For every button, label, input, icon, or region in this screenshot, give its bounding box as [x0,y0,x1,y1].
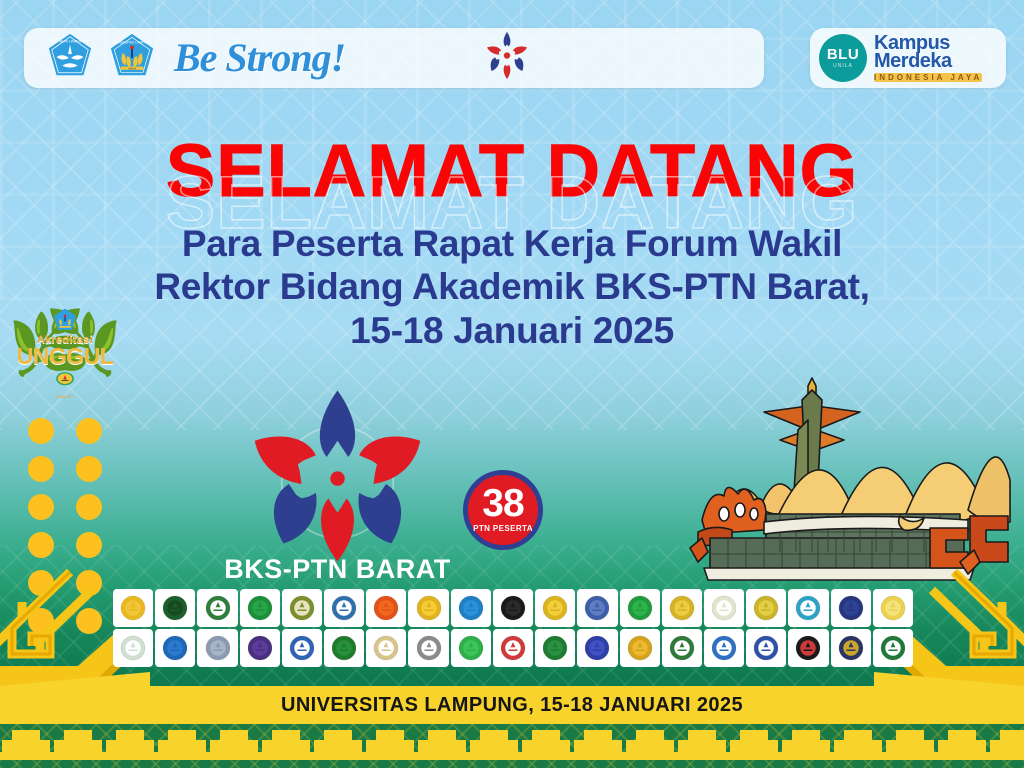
headline-main: SELAMAT DATANG [0,134,1024,208]
accreditation-line2: UNGGUL [17,346,114,368]
university-logo-unp [324,589,364,627]
footer-tapis-band [0,724,1024,768]
university-logo-ui [873,589,913,627]
tapis-tooth [728,730,780,760]
poster-canvas: TUT WURI HANDAYANI UNIVERSITAS LAMPUNG U… [0,0,1024,768]
university-logo-uin-mataram [535,629,575,667]
tapis-tooth [624,730,676,760]
university-logo-unib [197,589,237,627]
tapis-tooth [52,730,104,760]
tut-wuri-handayani-icon: TUT WURI HANDAYANI [46,32,94,85]
accreditation-badge: 🌿 🌿 Akreditasi UNGGUL BAN-PT [6,305,124,397]
university-logo-unand [155,589,195,627]
university-logo-unsoed [197,629,237,667]
tapis-tooth [208,730,260,760]
bks-ptn-flower-icon [484,31,530,86]
dot [28,494,54,520]
tapis-tooth [520,730,572,760]
kampus-merdeka-line3: INDONESIA JAYA [874,73,982,82]
university-logo-grid [113,589,913,667]
university-logo-uin-ar-raniry [324,629,364,667]
tapis-tooth [156,730,208,760]
university-logo-unsyiah [366,589,406,627]
university-logo-unsri [113,589,153,627]
university-logo-untirta [282,589,322,627]
university-logo-unpad [662,589,702,627]
tapis-tooth [832,730,884,760]
university-logo-isbi-aceh [408,629,448,667]
university-logo-itb [831,629,871,667]
university-logo-unri [620,589,660,627]
university-logo-uin-raden-fatah [746,629,786,667]
svg-text:TUT WURI HANDAYANI: TUT WURI HANDAYANI [52,39,88,43]
university-logo-unimed [408,589,448,627]
tapis-tooth [312,730,364,760]
university-logo-uin-raden-intan [113,629,153,667]
university-logo-uin-sutha [282,629,322,667]
university-logo-uin-suska [788,589,828,627]
unila-small-icon [52,307,78,333]
tapis-tooth [468,730,520,760]
university-logo-uin-walisongo [662,629,702,667]
headline-subtitle-line3: 15-18 Januari 2025 [0,309,1024,352]
dot [76,456,102,482]
tapis-tooth [780,730,832,760]
sponsor-bar-left: TUT WURI HANDAYANI UNIVERSITAS LAMPUNG U… [24,28,764,88]
dot [76,418,102,444]
blu-sub-label: UNILA [833,64,853,69]
ban-pt-icon: BAN-PT [52,371,78,397]
tapis-tooth [988,730,1024,760]
accreditation-text: Akreditasi UNGGUL [17,334,114,368]
kampus-merdeka-logo: Kampus Merdeka INDONESIA JAYA [874,34,982,82]
tapis-tooth [104,730,156,760]
svg-text:UNIVERSITAS LAMPUNG: UNIVERSITAS LAMPUNG [112,40,152,44]
university-logo-unimal [451,629,491,667]
dot [28,418,54,444]
lampung-landmark-illustration [668,372,1020,590]
university-logo-undip [155,629,195,667]
university-logo-itera [366,629,406,667]
participants-count-badge: 38 PTN PESERTA [463,470,543,550]
kampus-merdeka-line2: Merdeka [874,52,982,70]
headline-subtitle: Para Peserta Rapat Kerja Forum Wakil Rek… [0,222,1024,352]
tapis-tooth [416,730,468,760]
university-logo-upi [577,589,617,627]
university-logo-unj [577,629,617,667]
tapis-tooth [364,730,416,760]
tapis-tooth [0,730,52,760]
university-logo-ipb [831,589,871,627]
blu-label: BLU [827,47,859,62]
tapis-tooth [884,730,936,760]
dot [28,456,54,482]
university-logo-uin-sgd [873,629,913,667]
sponsor-bar-right: BLU UNILA Kampus Merdeka INDONESIA JAYA [810,28,1006,88]
university-logo-unilak [746,589,786,627]
bks-ptn-barat-label: BKS-PTN BARAT [200,554,475,585]
university-logo-untan [535,589,575,627]
headline-block: SELAMAT DATANG SELAMAT DATANG Para Peser… [0,134,1024,352]
participants-caption: PTN PESERTA [473,524,533,533]
universitas-lampung-icon: UNIVERSITAS LAMPUNG UNILA [108,32,156,85]
ban-pt-label: BAN-PT [52,394,78,399]
footer-text: UNIVERSITAS LAMPUNG, 15-18 JANUARI 2025 [281,694,743,717]
university-logo-unila [451,589,491,627]
dot [76,532,102,558]
university-logo-uns [620,629,660,667]
tapis-tooth [936,730,988,760]
tapis-tooth [572,730,624,760]
university-logo-unsam [493,629,533,667]
headline-subtitle-line1: Para Peserta Rapat Kerja Forum Wakil [0,222,1024,265]
university-logo-unja [240,589,280,627]
tapis-tooth [676,730,728,760]
university-logo-upi-bandung [788,629,828,667]
university-logo-umrah [704,589,744,627]
blu-logo: BLU UNILA [819,34,867,82]
dot [76,494,102,520]
tapis-tooth [260,730,312,760]
bks-ptn-barat-logo [245,385,430,565]
participants-count: 38 [482,487,523,520]
svg-text:UNILA: UNILA [128,66,137,70]
footer-tooth-pattern [0,730,1024,760]
be-strong-tagline: Be Strong! [174,38,345,78]
university-logo-universitas-terbuka [704,629,744,667]
university-logo-unnes [493,589,533,627]
headline-subtitle-line2: Rektor Bidang Akademik BKS-PTN Barat, [0,265,1024,308]
footer-banner: UNIVERSITAS LAMPUNG, 15-18 JANUARI 2025 [0,686,1024,724]
dot [28,532,54,558]
university-logo-uin-imam-bonjol [240,629,280,667]
